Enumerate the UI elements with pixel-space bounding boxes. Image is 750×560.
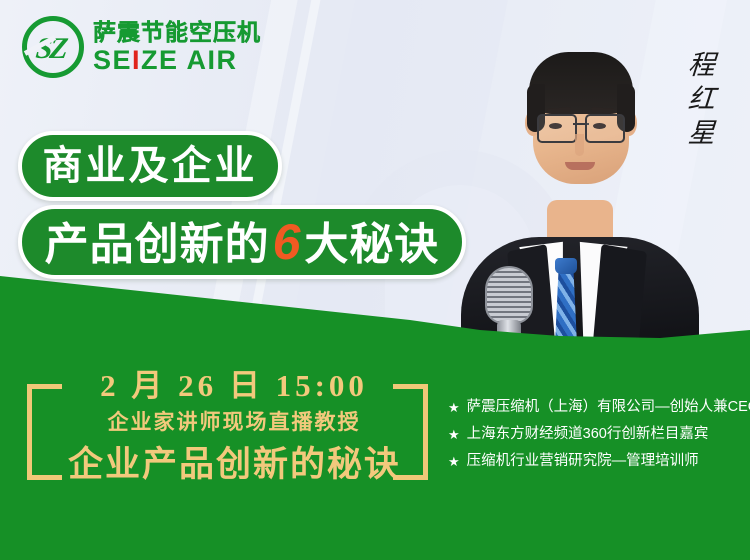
star-icon: ★ <box>448 401 460 414</box>
portrait-nose <box>575 134 584 156</box>
speaker-name-char: 红 <box>687 86 716 113</box>
headline-pill-1: 商业及企业 <box>18 131 282 201</box>
brand-logo: SZ 萨震节能空压机 SEIZE AIR <box>22 16 261 78</box>
headline-line-2: 产品创新的6大秘诀 <box>45 217 440 267</box>
headline-pill-2: 产品创新的6大秘诀 <box>18 205 466 279</box>
microphone-head <box>485 266 533 324</box>
event-datetime: 2 月 26 日 15:00 <box>84 370 384 401</box>
brand-en-part2: ZE AIR <box>141 46 238 74</box>
speaker-name-char: 星 <box>687 120 716 147</box>
credential-text: 压缩机行业营销研究院—管理培训师 <box>467 452 699 470</box>
logo-monogram: SZ <box>34 34 66 64</box>
brand-en-part1: SE <box>93 46 132 74</box>
event-subtitle: 企业家讲师现场直播教授 <box>84 412 384 433</box>
brand-name-cn: 萨震节能空压机 <box>93 20 261 44</box>
speaker-name-char: 程 <box>687 52 716 79</box>
star-icon: ★ <box>448 428 460 441</box>
headline-line2-after: 大秘诀 <box>304 220 439 269</box>
star-icon: ★ <box>448 455 460 468</box>
credentials-list: ★ 萨震压缩机（上海）有限公司—创始人兼CEO ★ 上海东方财经频道360行创新… <box>448 398 750 470</box>
glasses-lens-left <box>537 114 577 143</box>
glasses-lens-right <box>585 114 625 143</box>
list-item: ★ 上海东方财经频道360行创新栏目嘉宾 <box>448 425 750 443</box>
portrait-tie-knot <box>555 258 577 274</box>
headline-line2-before: 产品创新的 <box>45 220 270 269</box>
brand-en-accent: I <box>132 46 141 74</box>
headline-line-1: 商业及企业 <box>43 146 258 186</box>
credential-text: 上海东方财经频道360行创新栏目嘉宾 <box>467 425 709 443</box>
list-item: ★ 压缩机行业营销研究院—管理培训师 <box>448 452 750 470</box>
speaker-name-vertical: 程 红 星 <box>688 52 715 147</box>
brand-name-en: SEIZE AIR <box>93 46 261 74</box>
portrait-mouth <box>565 162 595 170</box>
event-topic: 企业产品创新的秘诀 <box>62 447 407 482</box>
bracket-left <box>27 384 62 480</box>
sz-circle-emblem-icon: SZ <box>22 16 84 78</box>
list-item: ★ 萨震压缩机（上海）有限公司—创始人兼CEO <box>448 398 750 416</box>
promo-banner: SZ 萨震节能空压机 SEIZE AIR 商业及企业 产品创新的6大秘诀 2 月… <box>0 0 750 560</box>
headline-number: 6 <box>270 214 305 270</box>
brand-wordmark: 萨震节能空压机 SEIZE AIR <box>93 20 261 74</box>
credential-text: 萨震压缩机（上海）有限公司—创始人兼CEO <box>467 398 750 416</box>
